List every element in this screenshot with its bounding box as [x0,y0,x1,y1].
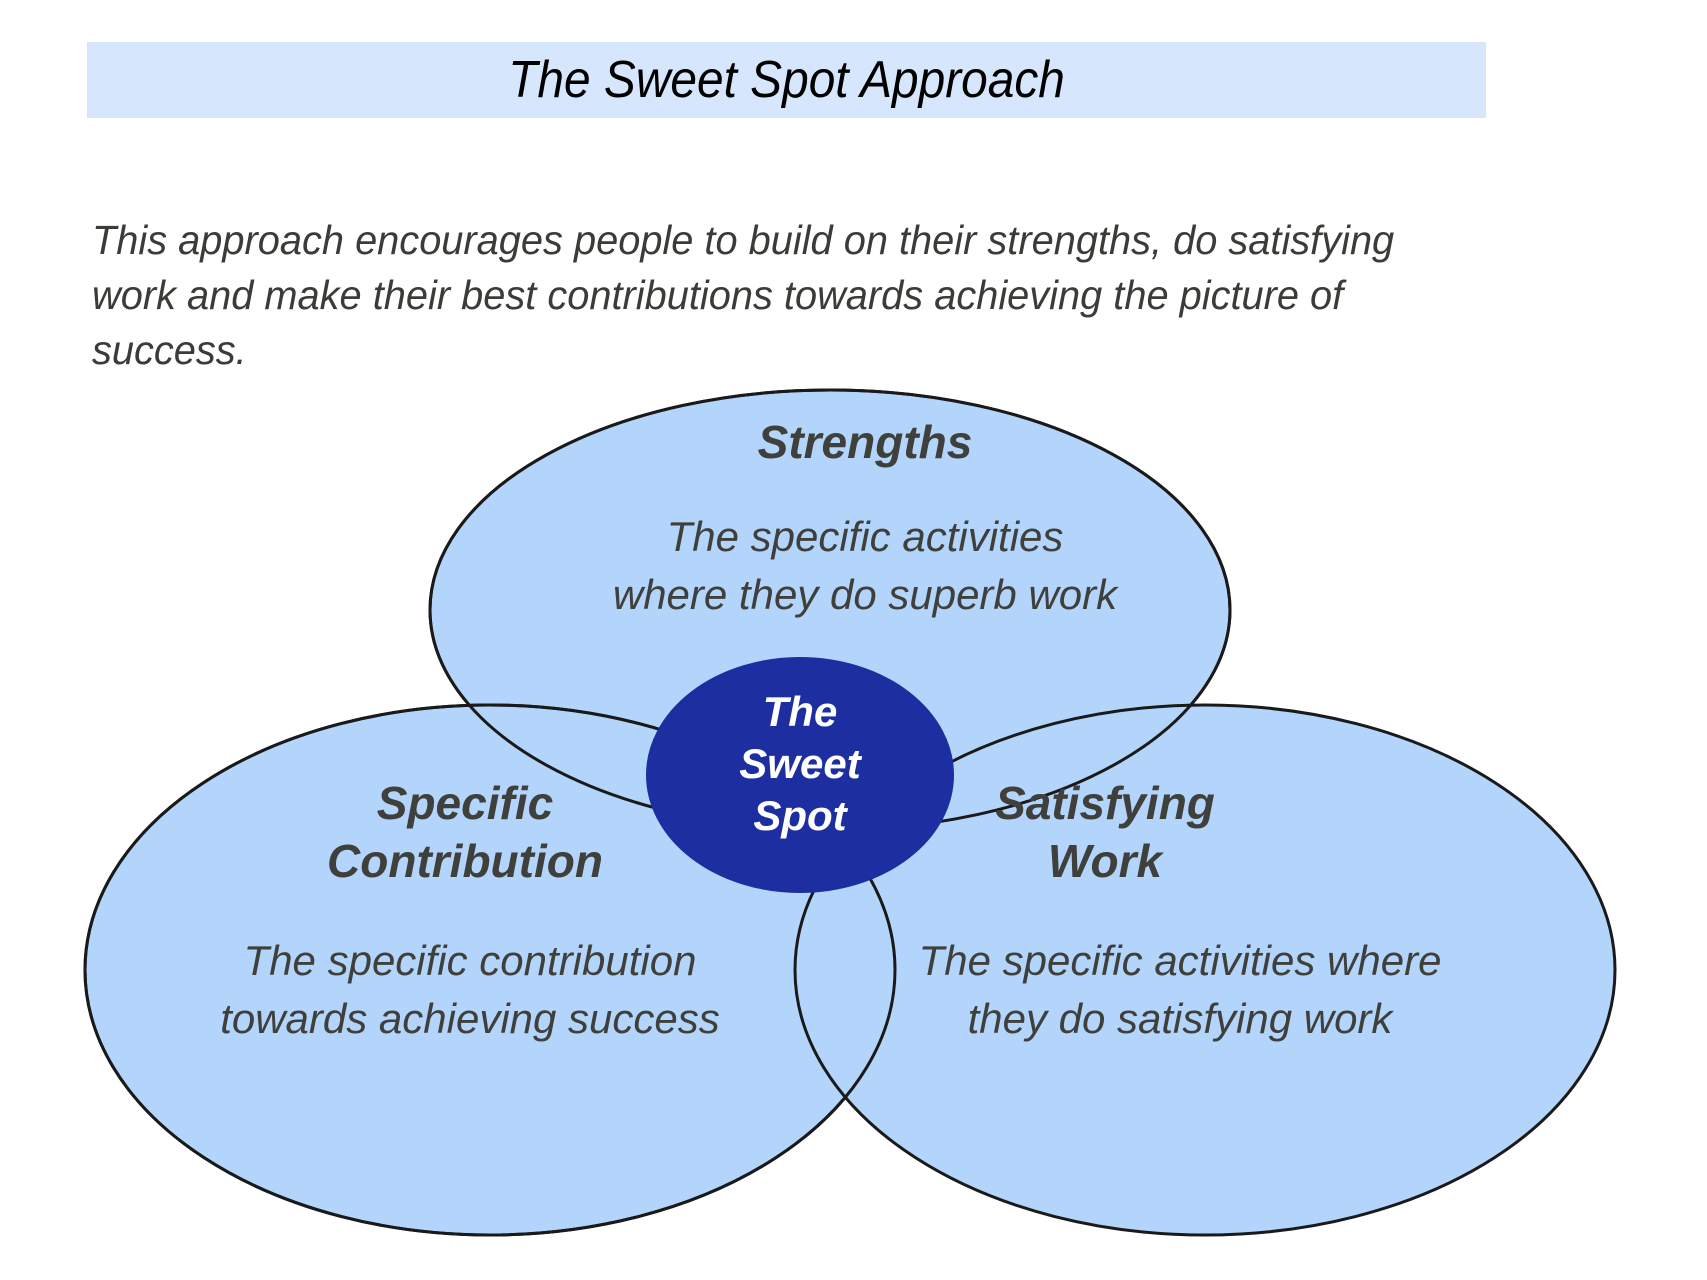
sweet-spot-label: The Sweet Spot [660,686,940,842]
lobe-body-specific-contribution: The specific contribution towards achiev… [120,932,820,1048]
lobe-heading-strengths: Strengths [530,413,1200,471]
lobe-body-strengths: The specific activities where they do su… [455,508,1275,624]
lobe-body-satisfying-work: The specific activities where they do sa… [810,932,1550,1048]
venn-svg [0,0,1707,1280]
venn-diagram: Strengths The specific activities where … [0,0,1707,1280]
